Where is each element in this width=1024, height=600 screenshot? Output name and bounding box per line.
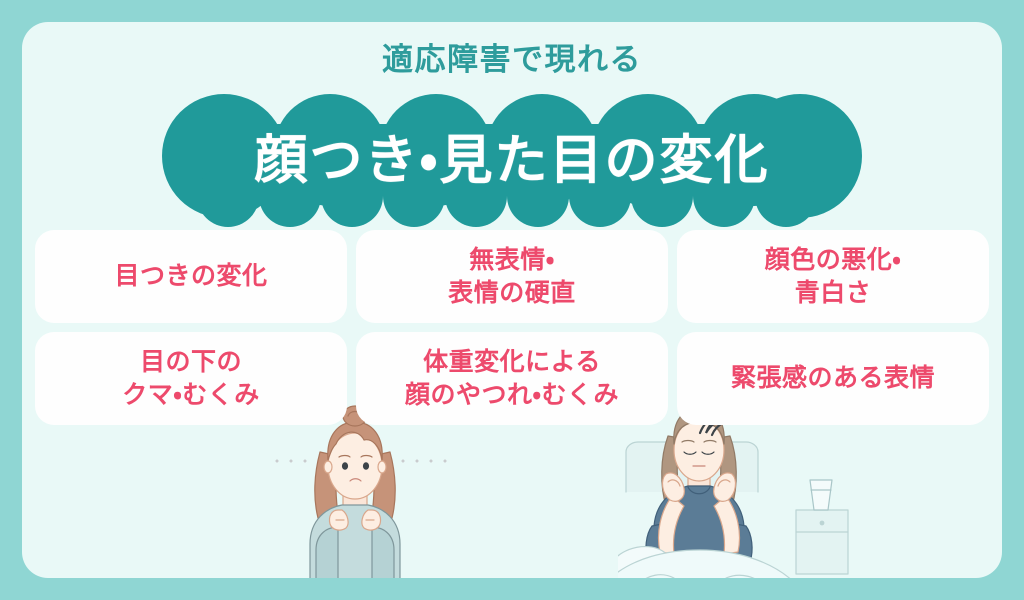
- symptom-card-under-eye-circles[interactable]: 目の下の クマ・むくみ: [35, 332, 347, 425]
- symptom-card-expressionless[interactable]: 無表情・ 表情の硬直: [356, 230, 668, 323]
- symptom-card-eye-look-change[interactable]: 目つきの変化: [35, 230, 347, 323]
- title-banner: 顔つき・見た目の変化: [22, 94, 1002, 229]
- symptom-card-grid: 目つきの変化 無表情・ 表情の硬直 顔色の悪化・ 青白さ 目の下の クマ・むくみ…: [35, 230, 989, 425]
- page-title: 顔つき・見た目の変化: [22, 94, 1002, 226]
- symptom-card-weight-change-face[interactable]: 体重変化による 顔のやつれ・むくみ: [356, 332, 668, 425]
- symptom-card-tense-expression[interactable]: 緊張感のある表情: [677, 332, 989, 425]
- content-panel: 適応障害で現れる: [22, 22, 1002, 578]
- page-subtitle: 適応障害で現れる: [22, 44, 1002, 75]
- infographic-root: 適応障害で現れる: [0, 0, 1024, 600]
- symptom-card-complexion-worsening[interactable]: 顔色の悪化・ 青白さ: [677, 230, 989, 323]
